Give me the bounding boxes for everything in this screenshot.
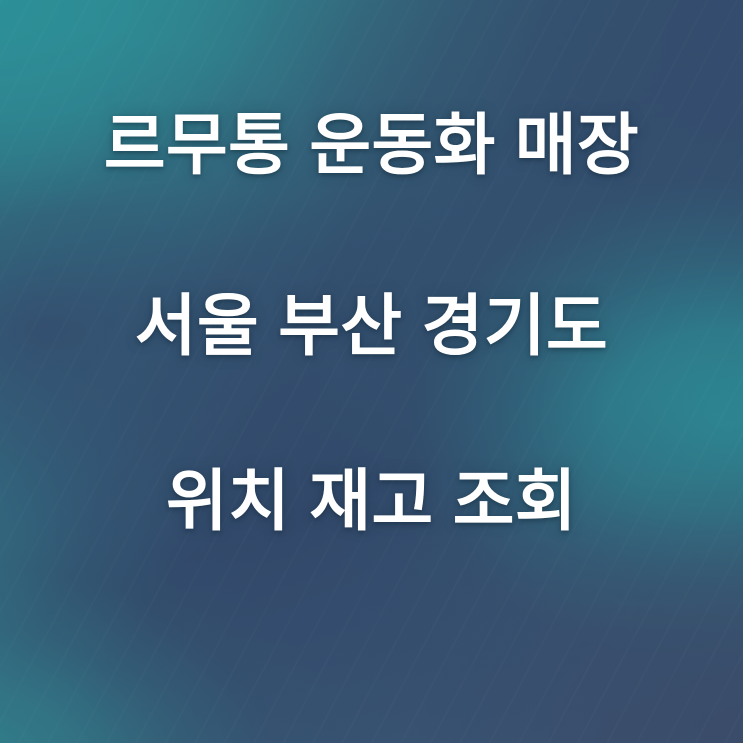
- poster-headline-line-3: 위치 재고 조회: [0, 468, 743, 535]
- poster-headline-line-2: 서울 부산 경기도: [0, 293, 743, 360]
- poster-text-stack: 르무통 운동화 매장 서울 부산 경기도 위치 재고 조회: [0, 0, 743, 743]
- poster-canvas: 르무통 운동화 매장 서울 부산 경기도 위치 재고 조회: [0, 0, 743, 743]
- poster-headline-line-1: 르무통 운동화 매장: [0, 112, 743, 179]
